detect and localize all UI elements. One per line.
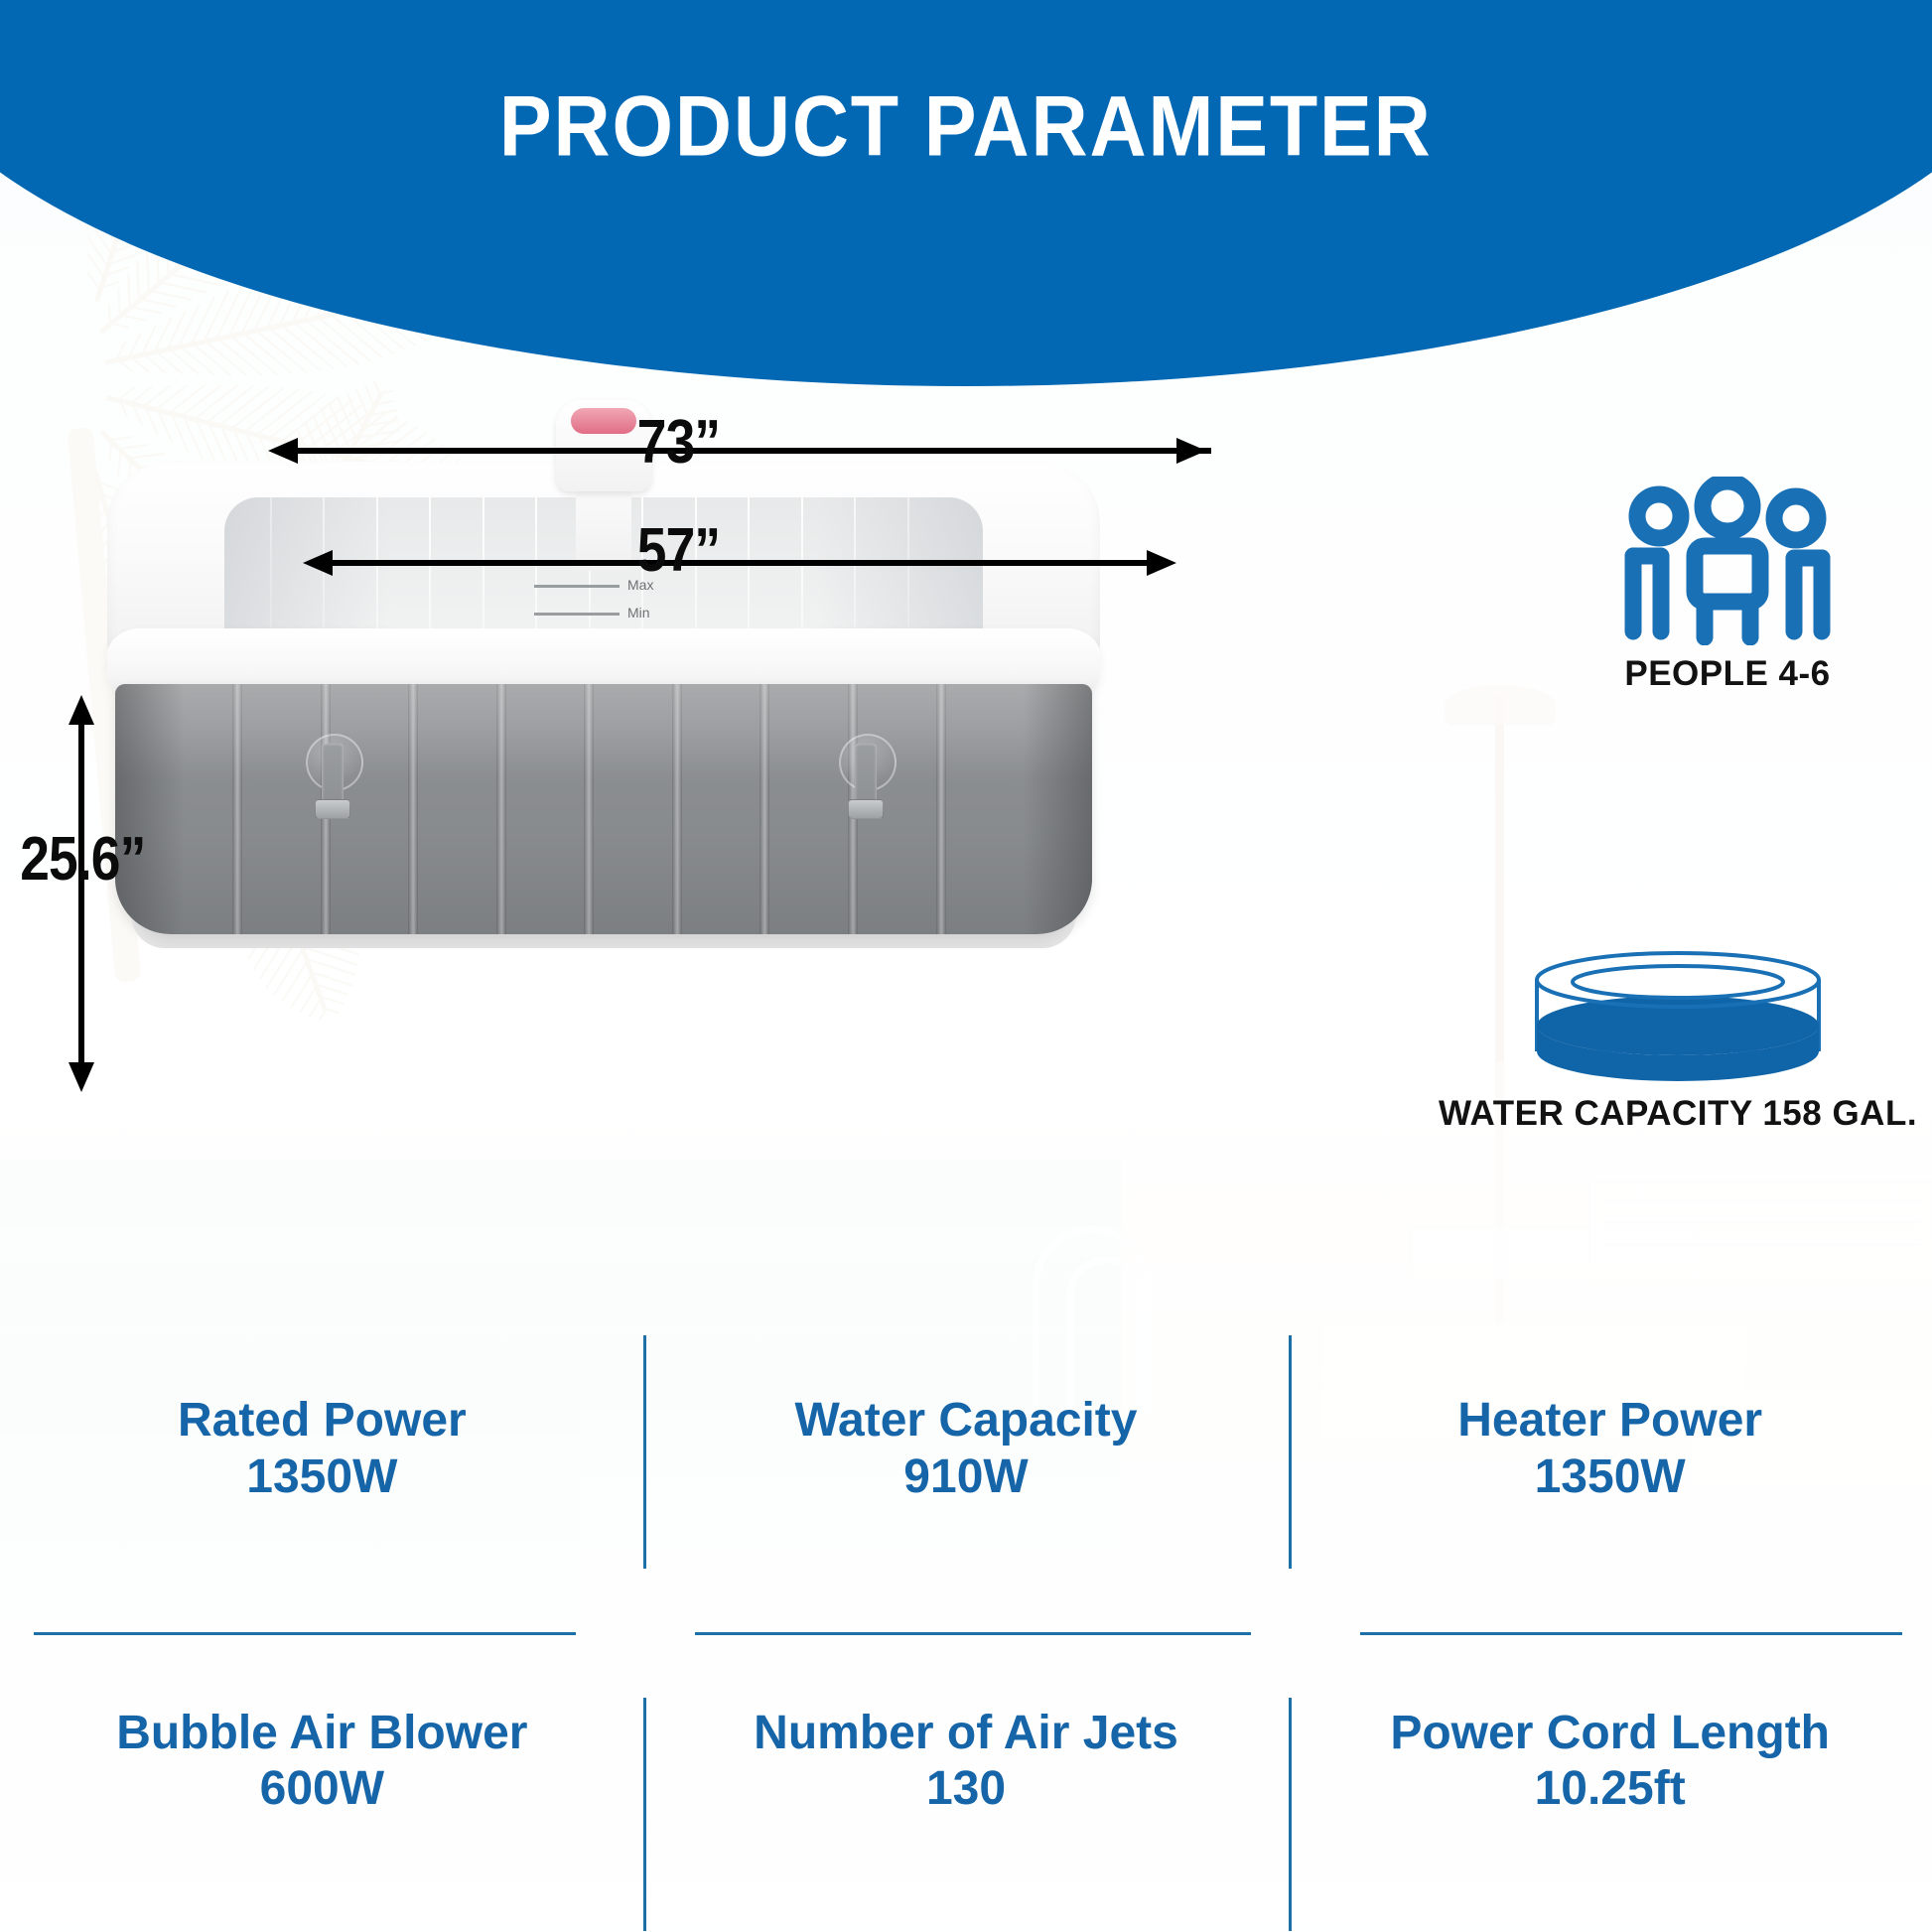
arrowhead-right (1147, 550, 1176, 576)
min-level-label: Min (627, 605, 650, 621)
water-capacity-caption: WATER CAPACITY 158 GAL. (1420, 1094, 1932, 1134)
spec-title: Water Capacity (794, 1393, 1137, 1449)
spec-title: Rated Power (178, 1393, 467, 1449)
arrowhead-up (69, 695, 94, 725)
min-level-mark (534, 613, 620, 616)
spec-value: 130 (926, 1761, 1006, 1818)
divider-horizontal-center (695, 1632, 1251, 1635)
arrowhead-down (69, 1062, 94, 1092)
spec-title: Bubble Air Blower (116, 1706, 527, 1762)
page-title: PRODUCT PARAMETER (0, 77, 1932, 176)
arrowhead-right (1176, 438, 1206, 464)
feature-people: PEOPLE 4-6 (1529, 477, 1926, 694)
spec-cell-water-capacity: Water Capacity 910W (644, 1335, 1289, 1634)
spec-cell-power-cord-length: Power Cord Length 10.25ft (1288, 1634, 1932, 1932)
divider-horizontal-right (1360, 1632, 1902, 1635)
spec-value: 1350W (1535, 1449, 1686, 1506)
dimension-label-73: 73” (637, 407, 720, 478)
divider-vertical-r1-c1 (643, 1335, 646, 1569)
carry-handle-right (839, 734, 897, 829)
spec-cell-number-of-air-jets: Number of Air Jets 130 (644, 1634, 1289, 1932)
spec-cell-heater-power: Heater Power 1350W (1288, 1335, 1932, 1634)
spec-cell-rated-power: Rated Power 1350W (0, 1335, 644, 1634)
people-caption: PEOPLE 4-6 (1529, 654, 1926, 694)
spec-cell-bubble-air-blower: Bubble Air Blower 600W (0, 1634, 644, 1932)
spec-value: 600W (260, 1761, 384, 1818)
tub-outer-wall (115, 684, 1092, 934)
dimension-label-57: 57” (637, 515, 720, 586)
divider-horizontal-left (34, 1632, 576, 1635)
spec-grid: Rated Power 1350W Water Capacity 910W He… (0, 1335, 1932, 1932)
water-capacity-icon (1519, 948, 1837, 1087)
spec-value: 10.25ft (1535, 1761, 1686, 1818)
dimension-line (296, 448, 1211, 454)
spec-title: Heater Power (1457, 1393, 1762, 1449)
feature-water-capacity: WATER CAPACITY 158 GAL. (1420, 948, 1932, 1134)
spec-title: Number of Air Jets (754, 1706, 1178, 1762)
dimension-label-256: 25.6” (20, 824, 145, 895)
spec-value: 910W (903, 1449, 1028, 1506)
carry-handle-left (306, 734, 363, 829)
dimension-outer-width: 73” (268, 417, 1211, 486)
dimension-inner-width: 57” (303, 529, 1176, 599)
spec-value: 1350W (246, 1449, 397, 1506)
divider-vertical-r2-c1 (643, 1698, 646, 1931)
people-icon (1613, 477, 1842, 645)
divider-vertical-r1-c2 (1289, 1335, 1292, 1569)
dimension-line (331, 560, 1149, 566)
divider-vertical-r2-c2 (1289, 1698, 1292, 1931)
arrowhead-left (268, 438, 298, 464)
spec-title: Power Cord Length (1390, 1706, 1830, 1762)
arrowhead-left (303, 550, 333, 576)
dimension-outer-width-right-arrow (1176, 417, 1216, 486)
